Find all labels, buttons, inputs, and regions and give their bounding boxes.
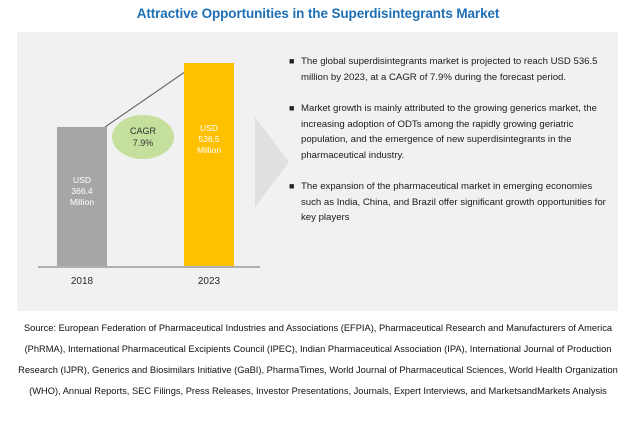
square-bullet-icon: ■ <box>289 54 301 85</box>
list-item: ■ The global superdisintegrants market i… <box>289 54 611 85</box>
list-item-text: Market growth is mainly attributed to th… <box>301 101 611 163</box>
bar-2023: USD 536.5 Million <box>184 63 234 266</box>
key-highlights-list: ■ The global superdisintegrants market i… <box>289 54 611 242</box>
separator-arrow-icon <box>255 117 289 207</box>
cagr-value: 7.9% <box>133 137 154 149</box>
x-tick-2018: 2018 <box>52 276 112 287</box>
bar-chart: USD 366.4 Million USD 536.5 Million CAGR… <box>17 32 279 311</box>
cagr-label: CAGR <box>130 125 156 137</box>
page-title: Attractive Opportunities in the Superdis… <box>0 6 636 21</box>
bar-2018: USD 366.4 Million <box>57 127 107 266</box>
infographic-panel: USD 366.4 Million USD 536.5 Million CAGR… <box>17 32 618 311</box>
list-item-text: The global superdisintegrants market is … <box>301 54 611 85</box>
list-item-text: The expansion of the pharmaceutical mark… <box>301 179 611 226</box>
x-axis-line <box>38 266 260 268</box>
bar-2023-label: USD 536.5 Million <box>184 123 234 156</box>
list-item: ■ Market growth is mainly attributed to … <box>289 101 611 163</box>
square-bullet-icon: ■ <box>289 101 301 163</box>
list-item: ■ The expansion of the pharmaceutical ma… <box>289 179 611 226</box>
bar-2018-label: USD 366.4 Million <box>57 175 107 208</box>
x-tick-2023: 2023 <box>179 276 239 287</box>
source-note: Source: European Federation of Pharmaceu… <box>14 318 622 402</box>
cagr-callout: CAGR 7.9% <box>112 115 174 159</box>
square-bullet-icon: ■ <box>289 179 301 226</box>
